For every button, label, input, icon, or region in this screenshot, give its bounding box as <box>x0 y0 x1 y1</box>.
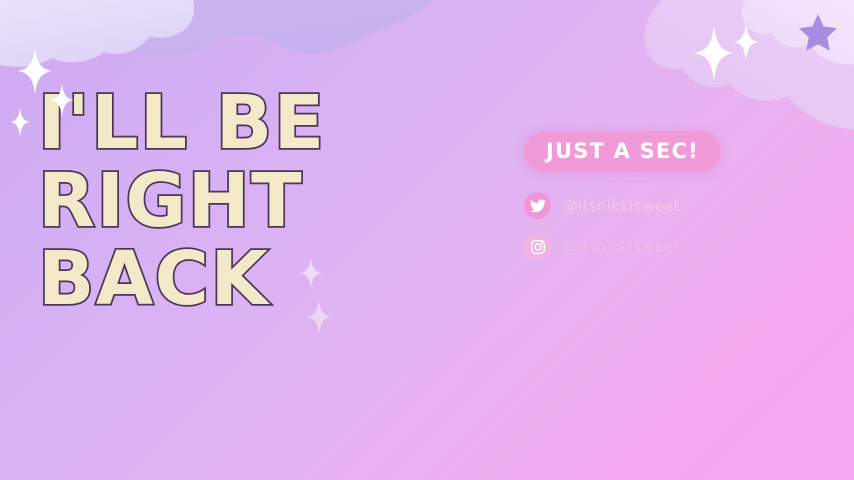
sparkle-left-small <box>10 108 30 136</box>
twitter-bird-icon <box>524 192 551 219</box>
cloud-top-right-front <box>742 0 854 64</box>
headline-line-1: I'LL BE <box>38 84 468 162</box>
star-top-right-icon <box>797 12 839 54</box>
social-row-instagram[interactable]: @itsnikkisweet <box>524 233 824 260</box>
social-links-list: @itsnikkisweet @itsnikkisweet <box>524 192 824 260</box>
brb-overlay-canvas: I'LL BE RIGHT BACK JUST A SEC! @itsnikki… <box>0 0 854 480</box>
sparkle-right-small <box>733 24 759 60</box>
cloud-top-left-front <box>0 0 194 67</box>
headline-block: I'LL BE RIGHT BACK <box>38 84 468 318</box>
sparkle-right-large <box>694 26 734 80</box>
social-row-twitter[interactable]: @itsnikkisweet <box>524 192 824 219</box>
headline-line-3: BACK <box>38 240 468 318</box>
headline-line-2: RIGHT <box>38 162 468 240</box>
instagram-handle: @itsnikkisweet <box>563 238 680 256</box>
cloud-top-left-back <box>0 0 440 57</box>
instagram-camera-icon <box>524 233 551 260</box>
cloud-top-right-back <box>644 0 854 130</box>
info-panel: JUST A SEC! @itsnikkisweet <box>524 131 824 274</box>
twitter-handle: @itsnikkisweet <box>563 197 680 215</box>
status-badge: JUST A SEC! <box>524 131 721 172</box>
